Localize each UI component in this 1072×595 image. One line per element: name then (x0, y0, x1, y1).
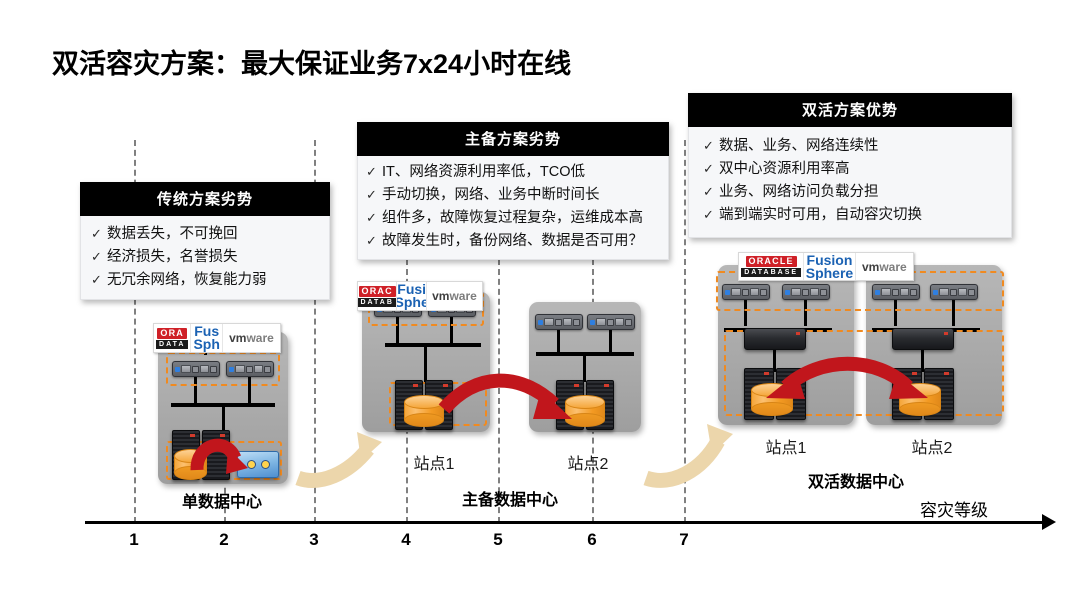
network-wire (424, 347, 427, 382)
vmware-vm-text: vm (229, 331, 246, 345)
oracle-database-text: DATABASE (741, 268, 801, 277)
switch-led-icon (229, 367, 234, 372)
oracle-wordmark: ORAC (359, 286, 396, 297)
bullet-item: ✓ 组件多，故障恢复过程复杂，运维成本高 (366, 208, 660, 228)
switch-led-icon (725, 290, 730, 295)
check-icon: ✓ (91, 224, 107, 244)
fusionsphere-logo: Fusion Sphere (804, 253, 855, 280)
check-icon: ✓ (366, 231, 382, 251)
oracle-logo: ORA DATA (154, 324, 191, 352)
vmware-logo: vmware (223, 324, 280, 352)
switch-panel (615, 318, 625, 326)
bullet-text: 双中心资源利用率高 (719, 159, 850, 179)
bullet-text: 端到端实时可用，自动容灾切换 (719, 205, 922, 225)
check-icon: ✓ (703, 182, 719, 202)
switch-port-icon (607, 319, 614, 326)
switch-port-icon (625, 319, 632, 326)
oracle-logo: ORACLE DATABASE (739, 253, 804, 280)
vmware-vm-text: vm (862, 260, 879, 274)
switch-port-icon (210, 366, 217, 373)
check-icon: ✓ (91, 270, 107, 290)
switch-panel (958, 288, 968, 296)
callout-traditional: 传统方案劣势 ✓ 数据丢失，不可挽回 ✓ 经济损失，名誉损失 ✓ 无冗余网络，恢… (80, 182, 330, 300)
oracle-wordmark: ORA (157, 328, 187, 339)
bullet-text: 数据、业务、网络连续性 (719, 136, 879, 156)
vmware-wordmark: vmware (432, 289, 477, 303)
callout-active-active: 双活方案优势 ✓ 数据、业务、网络连续性 ✓ 双中心资源利用率高 ✓ 业务、网络… (688, 93, 1012, 238)
network-switch-icon (587, 314, 635, 330)
switch-port-icon (802, 289, 809, 296)
switch-led-icon (785, 290, 790, 295)
switch-panel (881, 288, 891, 296)
switch-port-icon (820, 289, 827, 296)
check-icon: ✓ (366, 185, 382, 205)
vmware-ware-text: ware (246, 331, 273, 345)
storage-enclosure-icon (892, 328, 954, 350)
switch-led-icon (875, 290, 880, 295)
switch-panel (254, 365, 264, 373)
switch-led-icon (538, 320, 543, 325)
db-bottom (174, 466, 207, 480)
bullet-item: ✓ 故障发生时，备份网络、数据是否可用？ (366, 231, 660, 251)
sphere-text: Sphere (806, 267, 853, 280)
switch-port-icon (192, 366, 199, 373)
switch-port-icon (264, 366, 271, 373)
tape-reel-icon (261, 460, 270, 469)
switch-port-icon (742, 289, 749, 296)
database-cylinder-icon (751, 383, 793, 416)
vendor-logo-strip-single: ORA DATA Fus Sph vmware (153, 323, 281, 353)
switch-panel (181, 365, 191, 373)
vmware-ware-text: ware (879, 260, 906, 274)
bullet-item: ✓ IT、网络资源利用率低，TCO低 (366, 162, 660, 182)
switch-port-icon (950, 289, 957, 296)
callout-active-standby-body: ✓ IT、网络资源利用率低，TCO低 ✓ 手动切换，网络、业务中断时间长 ✓ 组… (357, 156, 669, 260)
check-icon: ✓ (366, 208, 382, 228)
db-top (174, 449, 207, 463)
db-bottom (565, 413, 605, 427)
bullet-text: 业务、网络访问负载分担 (719, 182, 879, 202)
bullet-text: 经济损失，名誉损失 (107, 247, 238, 267)
bullet-text: 故障发生时，备份网络、数据是否可用？ (382, 231, 643, 251)
bullet-text: 数据丢失，不可挽回 (107, 224, 238, 244)
group-label-active-active: 双活数据中心 (808, 468, 904, 492)
db-bottom (404, 413, 444, 427)
slide-canvas: 双活容灾方案：最大保证业务7x24小时在线 容灾等级 1 2 3 4 5 6 7… (0, 0, 1072, 595)
bullet-item: ✓ 数据、业务、网络连续性 (703, 136, 1001, 156)
callout-active-standby-title: 主备方案劣势 (357, 122, 669, 156)
vmware-logo: vmware (856, 253, 913, 280)
bullet-text: 无冗余网络，恢复能力弱 (107, 270, 267, 290)
site-label-aa-2: 站点2 (912, 434, 953, 458)
enclosure-led-icon (944, 332, 948, 335)
check-icon: ✓ (703, 205, 719, 225)
bullet-item: ✓ 双中心资源利用率高 (703, 159, 1001, 179)
switch-port-icon (968, 289, 975, 296)
network-wire (609, 330, 612, 352)
bullet-item: ✓ 无冗余网络，恢复能力弱 (91, 270, 319, 290)
db-bottom (899, 402, 941, 416)
switch-panel (200, 365, 210, 373)
bullet-text: 组件多，故障恢复过程复杂，运维成本高 (382, 208, 643, 228)
bullet-text: IT、网络资源利用率低，TCO低 (382, 162, 585, 182)
bullet-text: 手动切换，网络、业务中断时间长 (382, 185, 600, 205)
vmware-ware-text: ware (449, 289, 476, 303)
vmware-wordmark: vmware (229, 331, 274, 345)
callout-active-active-body: ✓ 数据、业务、网络连续性 ✓ 双中心资源利用率高 ✓ 业务、网络访问负载分担 … (688, 127, 1012, 238)
enclosure-led-icon (796, 332, 800, 335)
switch-panel (544, 318, 554, 326)
storage-enclosure-icon (744, 328, 806, 350)
database-cylinder-icon (899, 383, 941, 416)
switch-panel (939, 288, 949, 296)
switch-led-icon (175, 367, 180, 372)
tape-backup-icon (237, 451, 279, 478)
db-top (751, 383, 793, 397)
callout-traditional-body: ✓ 数据丢失，不可挽回 ✓ 经济损失，名誉损失 ✓ 无冗余网络，恢复能力弱 (80, 216, 330, 300)
bullet-item: ✓ 数据丢失，不可挽回 (91, 224, 319, 244)
switch-panel (235, 365, 245, 373)
vendor-logo-strip-aa: ORACLE DATABASE Fusion Sphere vmware (738, 252, 914, 281)
sphere-text: Sphe (397, 296, 427, 309)
bullet-item: ✓ 手动切换，网络、业务中断时间长 (366, 185, 660, 205)
check-icon: ✓ (703, 159, 719, 179)
network-switch-icon (172, 361, 220, 377)
oracle-logo: ORAC DATAB (358, 282, 397, 310)
switch-port-icon (555, 319, 562, 326)
switch-panel (596, 318, 606, 326)
switch-led-icon (933, 290, 938, 295)
network-switch-icon (226, 361, 274, 377)
switch-panel (900, 288, 910, 296)
vendor-logo-strip-as: ORAC DATAB Fusi Sphe vmware (357, 281, 483, 311)
fusionsphere-logo: Fus Sph (191, 324, 223, 352)
sphere-text: Sph (193, 338, 219, 351)
db-bottom (751, 402, 793, 416)
switch-panel (563, 318, 573, 326)
network-switch-icon (872, 284, 920, 300)
switch-port-icon (760, 289, 767, 296)
switch-port-icon (573, 319, 580, 326)
switch-port-icon (892, 289, 899, 296)
bullet-item: ✓ 端到端实时可用，自动容灾切换 (703, 205, 1001, 225)
check-icon: ✓ (366, 162, 382, 182)
switch-port-icon (910, 289, 917, 296)
network-wire (222, 407, 225, 432)
switch-panel (731, 288, 741, 296)
network-switch-icon (722, 284, 770, 300)
db-top (899, 383, 941, 397)
fusionsphere-logo: Fusi Sphe (397, 282, 427, 310)
database-cylinder-icon (565, 395, 605, 427)
bullet-item: ✓ 业务、网络访问负载分担 (703, 182, 1001, 202)
database-cylinder-icon (404, 395, 444, 427)
oracle-wordmark: ORACLE (746, 256, 797, 267)
network-switch-icon (535, 314, 583, 330)
tape-reel-icon (247, 460, 256, 469)
db-top (404, 395, 444, 409)
switch-panel (750, 288, 760, 296)
switch-panel (810, 288, 820, 296)
oracle-database-text: DATA (156, 340, 188, 349)
callout-active-standby: 主备方案劣势 ✓ IT、网络资源利用率低，TCO低 ✓ 手动切换，网络、业务中断… (357, 122, 669, 260)
network-switch-icon (782, 284, 830, 300)
network-wire (557, 330, 560, 352)
vmware-vm-text: vm (432, 289, 449, 303)
database-cylinder-icon (174, 449, 207, 480)
site-label-aa-1: 站点1 (766, 434, 807, 458)
callout-traditional-title: 传统方案劣势 (80, 182, 330, 216)
vmware-logo: vmware (427, 282, 482, 310)
network-switch-icon (930, 284, 978, 300)
network-wire (385, 343, 481, 347)
check-icon: ✓ (91, 247, 107, 267)
oracle-database-text: DATAB (358, 298, 397, 307)
network-wire (583, 356, 586, 382)
vmware-wordmark: vmware (862, 260, 907, 274)
switch-panel (791, 288, 801, 296)
callout-active-active-title: 双活方案优势 (688, 93, 1012, 127)
switch-port-icon (246, 366, 253, 373)
db-top (565, 395, 605, 409)
switch-led-icon (590, 320, 595, 325)
check-icon: ✓ (703, 136, 719, 156)
bullet-item: ✓ 经济损失，名誉损失 (91, 247, 319, 267)
